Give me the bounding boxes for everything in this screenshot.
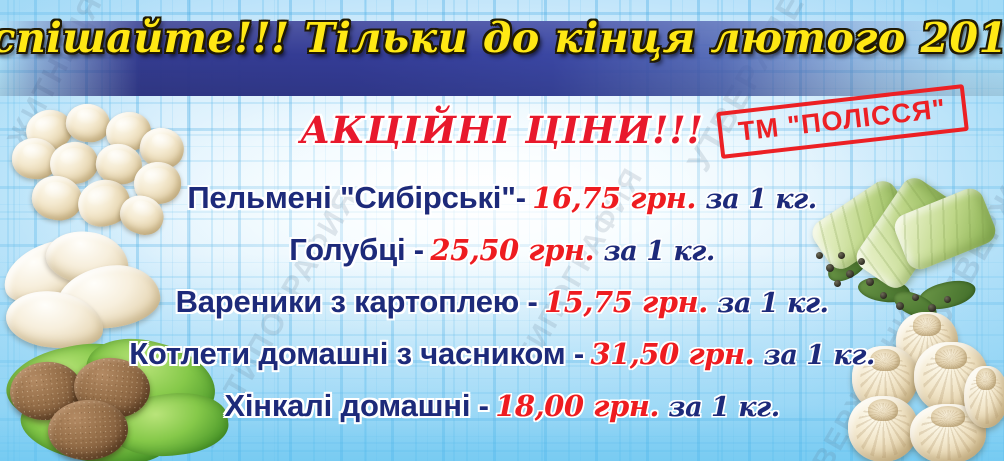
product-name: Голубці - bbox=[289, 232, 424, 267]
banner-title: Поспішайте!!! Тільки до кінця лютого 201… bbox=[0, 0, 1004, 75]
product-price: 16,75 грн. bbox=[532, 181, 696, 215]
price-row: Пельмені "Сибірські"- 16,75 грн. за 1 кг… bbox=[0, 172, 1004, 224]
product-name: Пельмені "Сибірські"- bbox=[187, 180, 525, 215]
product-unit: за 1 кг. bbox=[668, 392, 779, 423]
product-unit: за 1 кг. bbox=[764, 340, 875, 371]
price-row: Котлети домашні з часником - 31,50 грн. … bbox=[0, 328, 1004, 380]
product-unit: за 1 кг. bbox=[604, 236, 715, 267]
product-unit: за 1 кг. bbox=[717, 288, 828, 319]
product-price: 15,75 грн. bbox=[544, 285, 708, 319]
product-name: Хінкалі домашні - bbox=[224, 388, 488, 423]
promo-poster: ЖИТНИЦЯ УТВЕРЖДЕН УТВЕРЖДЕНИЕ ИЕ ТИПОГРА… bbox=[0, 0, 1004, 461]
price-row: Голубці - 25,50 грн. за 1 кг. bbox=[0, 224, 1004, 276]
price-row: Хінкалі домашні - 18,00 грн. за 1 кг. bbox=[0, 380, 1004, 432]
price-row: Вареники з картоплею - 15,75 грн. за 1 к… bbox=[0, 276, 1004, 328]
product-unit: за 1 кг. bbox=[705, 184, 816, 215]
price-list: Пельмені "Сибірські"- 16,75 грн. за 1 кг… bbox=[0, 172, 1004, 432]
product-price: 18,00 грн. bbox=[495, 389, 659, 423]
product-price: 25,50 грн. bbox=[430, 233, 594, 267]
product-name: Котлети домашні з часником - bbox=[129, 336, 584, 371]
product-price: 31,50 грн. bbox=[590, 337, 754, 371]
product-name: Вареники з картоплею - bbox=[176, 284, 538, 319]
